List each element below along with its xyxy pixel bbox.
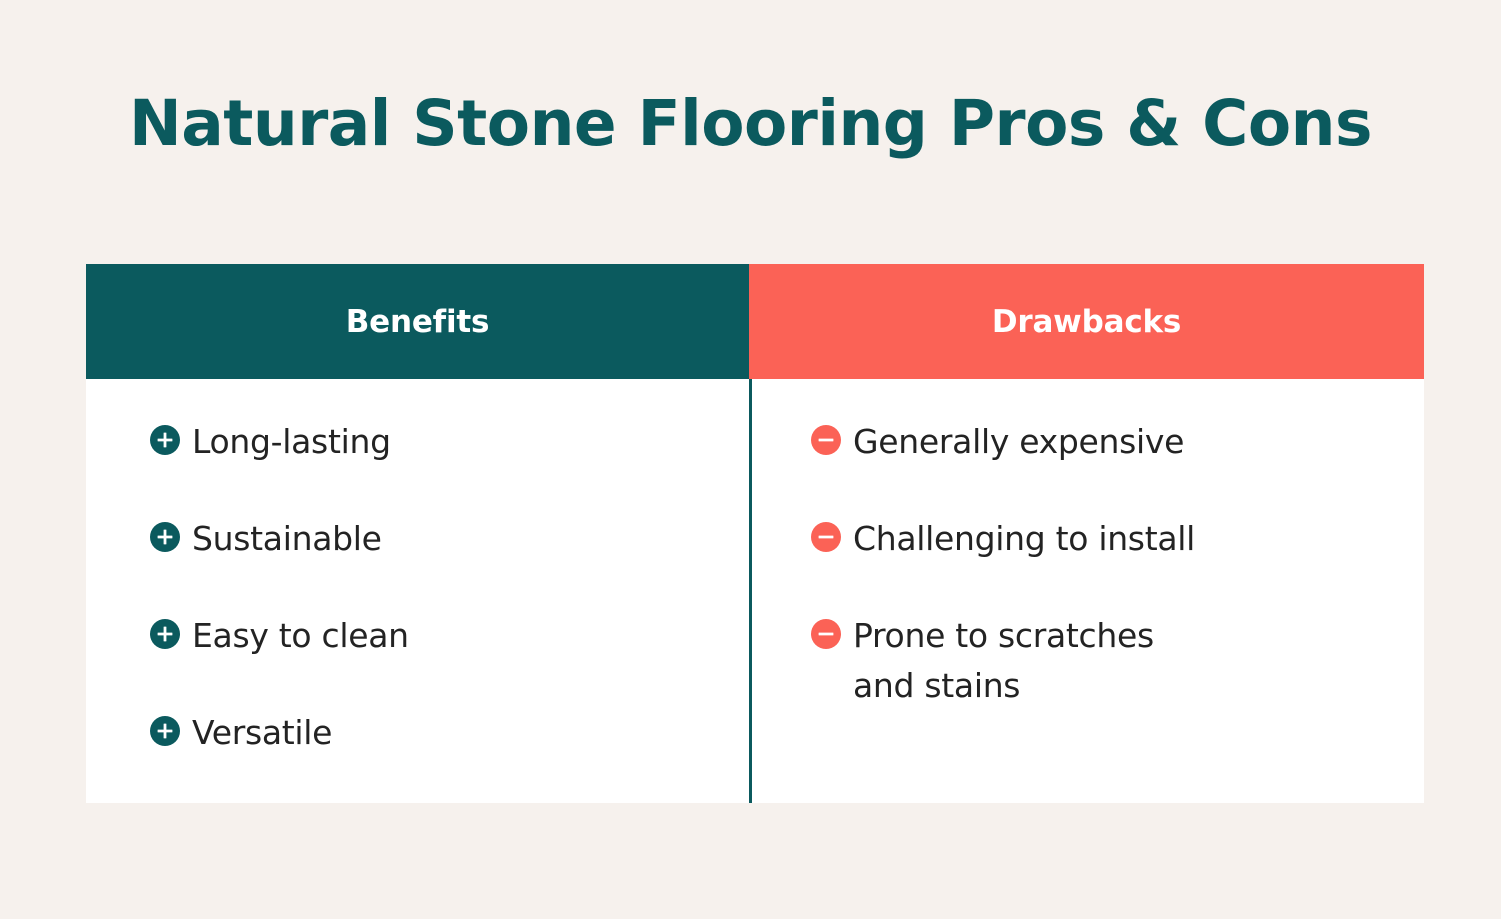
list-item-label: Challenging to install (853, 514, 1195, 564)
column-header-drawbacks: Drawbacks (749, 264, 1424, 379)
list-item: Generally expensive (811, 417, 1424, 467)
list-item-label: Sustainable (192, 514, 382, 564)
list-item-label: Easy to clean (192, 611, 409, 661)
pros-cons-table: Benefits Drawbacks Lo (86, 264, 1424, 803)
list-item-label: Generally expensive (853, 417, 1184, 467)
page-title: Natural Stone Flooring Pros & Cons (0, 88, 1501, 160)
minus-circle-icon (811, 619, 841, 649)
table-body: Long-lasting Sustainable (86, 379, 1424, 803)
list-item: Sustainable (150, 514, 749, 564)
list-item: Long-lasting (150, 417, 749, 467)
list-item-label-line1: Prone to scratches (853, 611, 1154, 661)
infographic-page: Natural Stone Flooring Pros & Cons Benef… (0, 0, 1501, 919)
column-header-drawbacks-label: Drawbacks (992, 304, 1181, 340)
list-item: Versatile (150, 708, 749, 758)
list-item: Challenging to install (811, 514, 1424, 564)
plus-circle-icon (150, 716, 180, 746)
plus-circle-icon (150, 522, 180, 552)
list-item-label: Long-lasting (192, 417, 391, 467)
list-item: Prone to scratches and stains (811, 611, 1424, 711)
table-header-row: Benefits Drawbacks (86, 264, 1424, 379)
minus-circle-icon (811, 425, 841, 455)
list-item-label: Prone to scratches and stains (853, 611, 1154, 711)
column-header-benefits-label: Benefits (346, 304, 490, 340)
list-item-label-line2: and stains (853, 661, 1154, 711)
list-item-label: Versatile (192, 708, 332, 758)
drawbacks-list: Generally expensive Challenging to insta… (749, 379, 1424, 712)
minus-circle-icon (811, 522, 841, 552)
benefits-column: Long-lasting Sustainable (86, 379, 749, 803)
drawbacks-column: Generally expensive Challenging to insta… (749, 379, 1424, 803)
plus-circle-icon (150, 425, 180, 455)
column-header-benefits: Benefits (86, 264, 749, 379)
plus-circle-icon (150, 619, 180, 649)
benefits-list: Long-lasting Sustainable (86, 379, 749, 759)
list-item: Easy to clean (150, 611, 749, 661)
